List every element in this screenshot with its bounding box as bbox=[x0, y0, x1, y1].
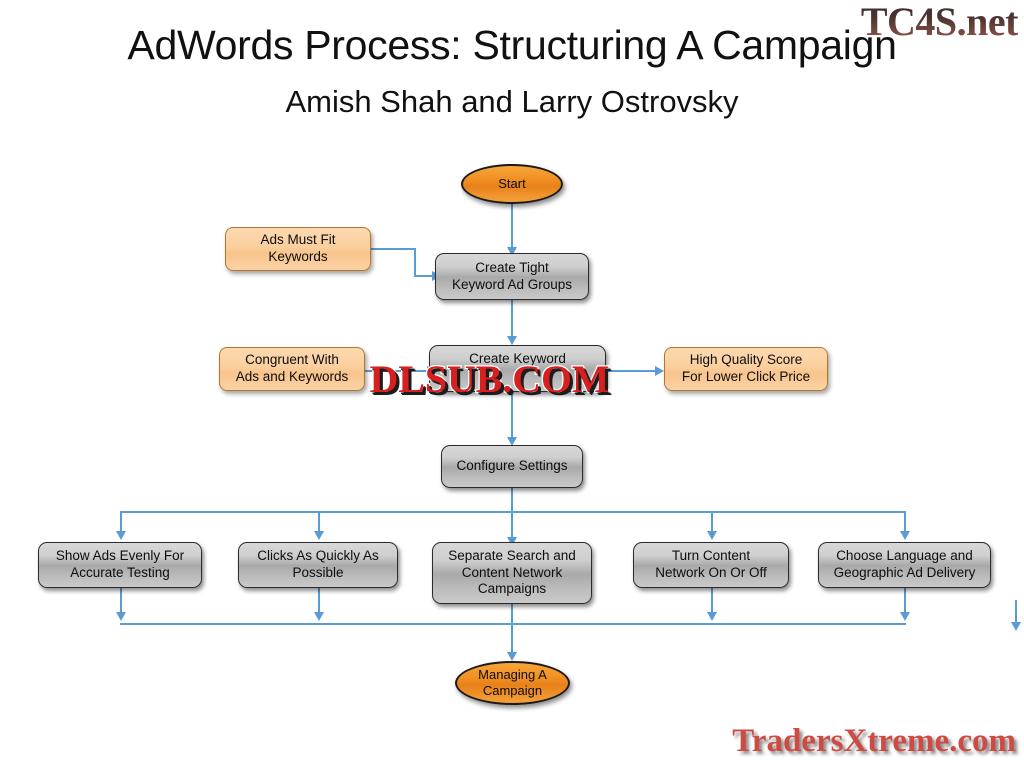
slide-canvas: AdWords Process: Structuring A Campaign … bbox=[0, 0, 1024, 768]
node-separate-search-content-line3: Campaigns bbox=[478, 581, 546, 598]
node-configure-settings-label: Configure Settings bbox=[456, 458, 567, 475]
node-start[interactable]: Start bbox=[461, 164, 563, 204]
arrow-fanout-opt2 bbox=[314, 531, 324, 540]
node-clicks-as-quickly-line2: Possible bbox=[292, 565, 343, 582]
arrow-adgroups-to-keyword bbox=[507, 336, 517, 345]
node-note-congruent[interactable]: Congruent With Ads and Keywords bbox=[219, 347, 365, 391]
watermark-tradersxtreme: TradersXtreme.com bbox=[732, 723, 1016, 760]
node-choose-language-geo-line2: Geographic Ad Delivery bbox=[834, 565, 976, 582]
connector-note-ads-h1 bbox=[371, 248, 416, 250]
arrow-fanin-opt1 bbox=[116, 612, 126, 621]
node-note-ads-line2: Keywords bbox=[268, 249, 327, 266]
connector-fanin-opt1 bbox=[120, 588, 122, 614]
node-show-ads-evenly-line1: Show Ads Evenly For bbox=[56, 548, 184, 565]
node-note-quality-score-line2: For Lower Click Price bbox=[682, 369, 810, 386]
node-managing-campaign-line2: Campaign bbox=[483, 683, 542, 699]
arrow-stray-right-edge bbox=[1011, 622, 1021, 631]
arrow-fanout-opt4 bbox=[707, 531, 717, 540]
connector-manage-stem bbox=[511, 623, 513, 655]
connector-fanout-bus bbox=[120, 511, 906, 513]
node-create-ad-groups[interactable]: Create Tight Keyword Ad Groups bbox=[435, 253, 589, 300]
node-separate-search-content-line2: Content Network bbox=[462, 565, 563, 582]
node-show-ads-evenly[interactable]: Show Ads Evenly For Accurate Testing bbox=[38, 542, 202, 588]
connector-fanin-opt4 bbox=[711, 588, 713, 614]
arrow-to-manage bbox=[507, 652, 517, 661]
node-note-quality-score[interactable]: High Quality Score For Lower Click Price bbox=[664, 347, 828, 391]
node-note-quality-score-line1: High Quality Score bbox=[690, 352, 803, 369]
arrow-keyword-to-note-qs bbox=[655, 366, 664, 376]
connector-fanin-opt3 bbox=[511, 604, 513, 623]
node-separate-search-content-line1: Separate Search and bbox=[448, 548, 576, 565]
connector-fanin-opt2 bbox=[318, 588, 320, 614]
arrow-fanout-opt1 bbox=[116, 531, 126, 540]
node-turn-content-network-line2: Network On Or Off bbox=[655, 565, 767, 582]
node-clicks-as-quickly[interactable]: Clicks As Quickly As Possible bbox=[238, 542, 398, 588]
connector-stray-right-edge bbox=[1015, 600, 1017, 624]
node-note-ads-line1: Ads Must Fit bbox=[260, 232, 335, 249]
watermark-tc4s: TC4S.net bbox=[861, 0, 1018, 45]
node-note-congruent-line1: Congruent With bbox=[245, 352, 339, 369]
node-choose-language-geo[interactable]: Choose Language and Geographic Ad Delive… bbox=[818, 542, 991, 588]
connector-settings-stem bbox=[511, 488, 513, 512]
node-create-ad-groups-line2: Keyword Ad Groups bbox=[452, 277, 572, 294]
node-choose-language-geo-line1: Choose Language and bbox=[836, 548, 973, 565]
node-turn-content-network[interactable]: Turn Content Network On Or Off bbox=[633, 542, 789, 588]
arrow-fanin-opt2 bbox=[314, 612, 324, 621]
node-turn-content-network-line1: Turn Content bbox=[672, 548, 750, 565]
connector-note-ads-h2 bbox=[414, 275, 434, 277]
node-configure-settings[interactable]: Configure Settings bbox=[441, 445, 583, 488]
node-clicks-as-quickly-line1: Clicks As Quickly As bbox=[257, 548, 379, 565]
node-create-ad-groups-line1: Create Tight bbox=[475, 260, 549, 277]
arrow-fanin-opt5 bbox=[900, 612, 910, 621]
connector-fanin-opt5 bbox=[904, 588, 906, 614]
connector-note-ads-v bbox=[414, 248, 416, 276]
connector-fanin-bus bbox=[120, 623, 906, 625]
node-start-label: Start bbox=[498, 176, 525, 192]
connector-keyword-to-note-qs bbox=[606, 370, 658, 372]
node-managing-campaign-line1: Managing A bbox=[478, 667, 547, 683]
connector-start-to-adgroups bbox=[511, 203, 513, 251]
node-note-ads-must-fit[interactable]: Ads Must Fit Keywords bbox=[225, 227, 371, 271]
node-note-congruent-line2: Ads and Keywords bbox=[236, 369, 349, 386]
arrow-fanout-opt5 bbox=[900, 531, 910, 540]
node-managing-campaign[interactable]: Managing A Campaign bbox=[455, 661, 570, 705]
arrow-fanin-opt4 bbox=[707, 612, 717, 621]
node-separate-search-content[interactable]: Separate Search and Content Network Camp… bbox=[432, 542, 592, 604]
watermark-dlsub: DLSUB.COM bbox=[370, 357, 610, 402]
connector-adgroups-to-keyword bbox=[511, 300, 513, 340]
node-show-ads-evenly-line2: Accurate Testing bbox=[70, 565, 170, 582]
page-subtitle: Amish Shah and Larry Ostrovsky bbox=[0, 84, 1024, 120]
connector-fanout-opt3 bbox=[511, 511, 513, 540]
